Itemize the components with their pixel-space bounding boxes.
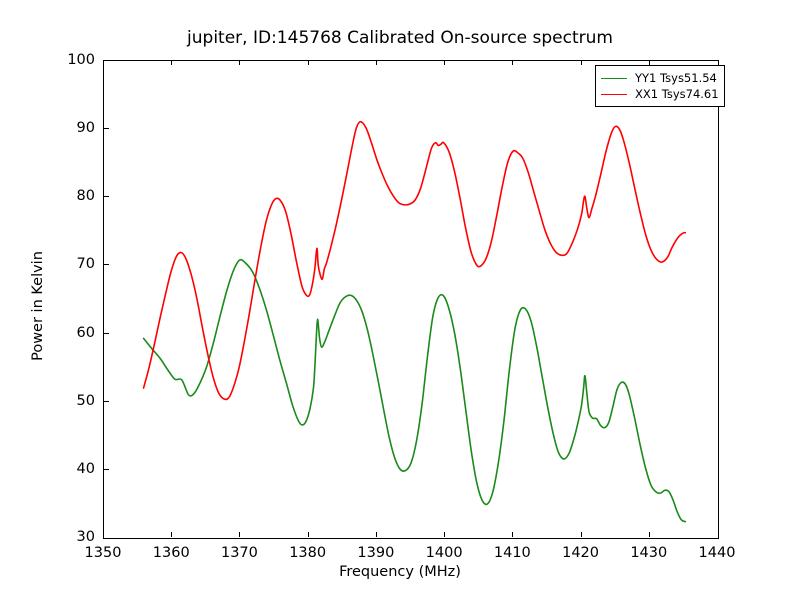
x-tick-label: 1440 bbox=[682, 545, 752, 561]
x-tick-label: 1410 bbox=[477, 545, 547, 561]
y-tick-label: 30 bbox=[51, 529, 95, 545]
figure-canvas: jupiter, ID:145768 Calibrated On-source … bbox=[0, 0, 800, 600]
legend-item: XX1 Tsys74.61 bbox=[601, 86, 719, 102]
y-tick-label: 70 bbox=[51, 256, 95, 272]
y-tick-label: 100 bbox=[51, 52, 95, 68]
x-tick-label: 1380 bbox=[273, 545, 343, 561]
y-tick-label: 50 bbox=[51, 393, 95, 409]
series-line-xx1 bbox=[144, 122, 686, 400]
x-tick-label: 1390 bbox=[341, 545, 411, 561]
plot-area bbox=[103, 60, 719, 539]
legend-swatch-xx1 bbox=[601, 94, 627, 95]
x-axis-label: Frequency (MHz) bbox=[0, 564, 800, 580]
x-tick-label: 1370 bbox=[204, 545, 274, 561]
series-layer bbox=[144, 122, 686, 522]
x-tick-label: 1360 bbox=[136, 545, 206, 561]
series-line-yy1 bbox=[144, 260, 686, 522]
legend: YY1 Tsys51.54 XX1 Tsys74.61 bbox=[595, 65, 725, 107]
y-tick-label: 90 bbox=[51, 120, 95, 136]
legend-swatch-yy1 bbox=[601, 78, 627, 79]
x-tick-label: 1350 bbox=[68, 545, 138, 561]
legend-label-xx1: XX1 Tsys74.61 bbox=[635, 87, 719, 101]
x-tick-label: 1400 bbox=[409, 545, 479, 561]
legend-label-yy1: YY1 Tsys51.54 bbox=[635, 71, 717, 85]
page-title: jupiter, ID:145768 Calibrated On-source … bbox=[0, 28, 800, 48]
x-tick-label: 1430 bbox=[614, 545, 684, 561]
y-tick-label: 40 bbox=[51, 461, 95, 477]
x-tick-label: 1420 bbox=[546, 545, 616, 561]
y-tick-label: 80 bbox=[51, 188, 95, 204]
plot-svg bbox=[104, 61, 718, 538]
legend-item: YY1 Tsys51.54 bbox=[601, 70, 719, 86]
y-tick-label: 60 bbox=[51, 325, 95, 341]
y-axis-label: Power in Kelvin bbox=[30, 206, 46, 406]
